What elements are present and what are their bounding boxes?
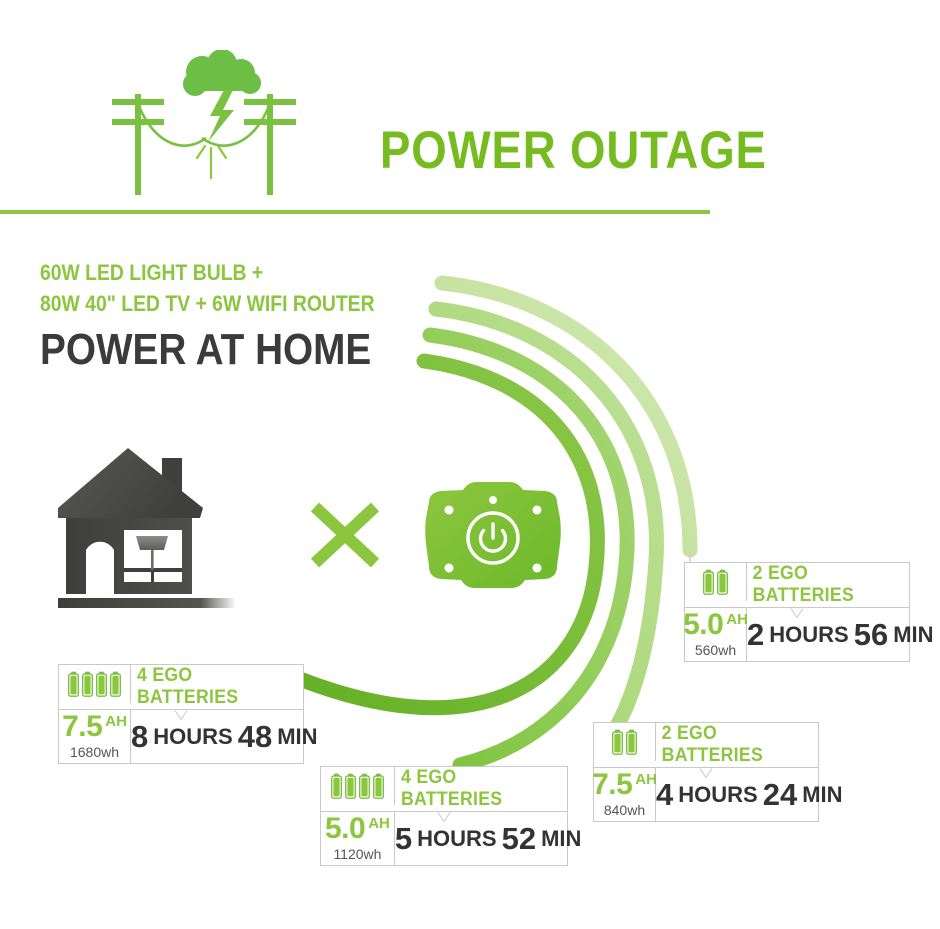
battery-icon: [345, 773, 356, 799]
capacity-cell: 7.5AH840wh: [594, 768, 656, 821]
amp-hours-line: 7.5AH: [62, 712, 127, 742]
runtime-hours-value: 2: [747, 619, 764, 650]
card-notch: [780, 608, 814, 619]
card-header-row: 4 EGO BATTERIES: [59, 665, 303, 710]
runtime-minutes-unit: MIN: [541, 828, 581, 850]
battery-icon: [82, 671, 93, 697]
infographic-canvas: POWER OUTAGE 60W LED LIGHT BULB + 80W 40…: [0, 0, 940, 929]
card-body-row: 5.0AH560wh2HOURS56MIN: [685, 608, 909, 661]
amp-hours-unit: AH: [635, 772, 657, 787]
amp-hours-line: 7.5AH: [592, 770, 657, 800]
battery-icon: [373, 773, 384, 799]
runtime-hours-value: 5: [395, 823, 412, 854]
runtime-cell: 2HOURS56MIN: [747, 608, 939, 661]
runtime-minutes-value: 56: [854, 619, 888, 650]
amp-hours-line: 5.0AH: [325, 814, 390, 844]
runtime-cell: 8HOURS48MIN: [131, 710, 323, 763]
card-header-row: 2 EGO BATTERIES: [594, 723, 818, 768]
runtime-cell: 4HOURS24MIN: [656, 768, 848, 821]
battery-icon: [717, 569, 728, 595]
watt-hours-value: 840wh: [604, 803, 645, 817]
battery-icon-group: [685, 563, 747, 601]
power-outage-icon: [100, 50, 335, 200]
capacity-cell: 7.5AH1680wh: [59, 710, 131, 763]
subtitle-line-1: 60W LED LIGHT BULB +: [40, 262, 263, 284]
runtime-minutes-value: 48: [238, 721, 272, 752]
card-header-row: 4 EGO BATTERIES: [321, 767, 567, 812]
card-notch: [689, 768, 723, 779]
capacity-cell: 5.0AH1120wh: [321, 812, 395, 865]
amp-hours-line: 5.0AH: [683, 610, 748, 640]
runtime-minutes-unit: MIN: [893, 624, 933, 646]
amp-hours-unit: AH: [368, 816, 390, 831]
battery-icon: [68, 671, 79, 697]
battery-icon-group: [59, 665, 131, 703]
watt-hours-value: 560wh: [695, 643, 736, 657]
battery-count-label: 2 EGO BATTERIES: [753, 563, 904, 607]
battery-icon: [359, 773, 370, 799]
battery-icon: [96, 671, 107, 697]
runtime-card-4x50[interactable]: 4 EGO BATTERIES5.0AH1120wh5HOURS52MIN: [320, 766, 568, 866]
amp-hours-value: 7.5: [592, 770, 632, 800]
runtime-hours-value: 4: [656, 779, 673, 810]
runtime-card-2x50[interactable]: 2 EGO BATTERIES5.0AH560wh2HOURS56MIN: [684, 562, 910, 662]
card-notch: [427, 812, 461, 823]
battery-count-label: 4 EGO BATTERIES: [137, 665, 297, 709]
watt-hours-value: 1680wh: [70, 745, 119, 759]
card-header-row: 2 EGO BATTERIES: [685, 563, 909, 608]
watt-hours-value: 1120wh: [333, 847, 381, 861]
house-with-lamp-icon: [58, 438, 288, 623]
header-divider: [0, 210, 710, 214]
card-body-row: 5.0AH1120wh5HOURS52MIN: [321, 812, 567, 865]
battery-icon-group: [594, 723, 656, 761]
runtime-hours-unit: HOURS: [769, 624, 848, 646]
runtime-minutes-unit: MIN: [277, 726, 317, 748]
battery-icon-group: [321, 767, 395, 805]
runtime-minutes-value: 24: [763, 779, 797, 810]
battery-icon: [703, 569, 714, 595]
card-body-row: 7.5AH840wh4HOURS24MIN: [594, 768, 818, 821]
runtime-hours-unit: HOURS: [153, 726, 232, 748]
amp-hours-value: 5.0: [325, 814, 365, 844]
battery-count-label: 2 EGO BATTERIES: [662, 723, 813, 767]
card-body-row: 7.5AH1680wh8HOURS48MIN: [59, 710, 303, 763]
battery-icon: [612, 729, 623, 755]
battery-count-label: 4 EGO BATTERIES: [401, 767, 561, 811]
amp-hours-value: 5.0: [683, 610, 723, 640]
runtime-minutes-value: 52: [502, 823, 536, 854]
battery-icon: [626, 729, 637, 755]
runtime-minutes-unit: MIN: [802, 784, 842, 806]
runtime-hours-unit: HOURS: [417, 828, 496, 850]
capacity-cell: 5.0AH560wh: [685, 608, 747, 661]
runtime-card-2x75[interactable]: 2 EGO BATTERIES7.5AH840wh4HOURS24MIN: [593, 722, 819, 822]
amp-hours-value: 7.5: [62, 712, 102, 742]
battery-icon: [331, 773, 342, 799]
runtime-hours-unit: HOURS: [678, 784, 757, 806]
amp-hours-unit: AH: [105, 714, 127, 729]
card-notch: [164, 710, 198, 721]
runtime-hours-value: 8: [131, 721, 148, 752]
runtime-cell: 5HOURS52MIN: [395, 812, 587, 865]
page-title: POWER OUTAGE: [380, 124, 767, 177]
ego-nexus-power-station-icon: [415, 478, 570, 593]
times-icon: [305, 495, 385, 575]
amp-hours-unit: AH: [726, 612, 748, 627]
runtime-card-4x75[interactable]: 4 EGO BATTERIES7.5AH1680wh8HOURS48MIN: [58, 664, 304, 764]
battery-icon: [110, 671, 121, 697]
